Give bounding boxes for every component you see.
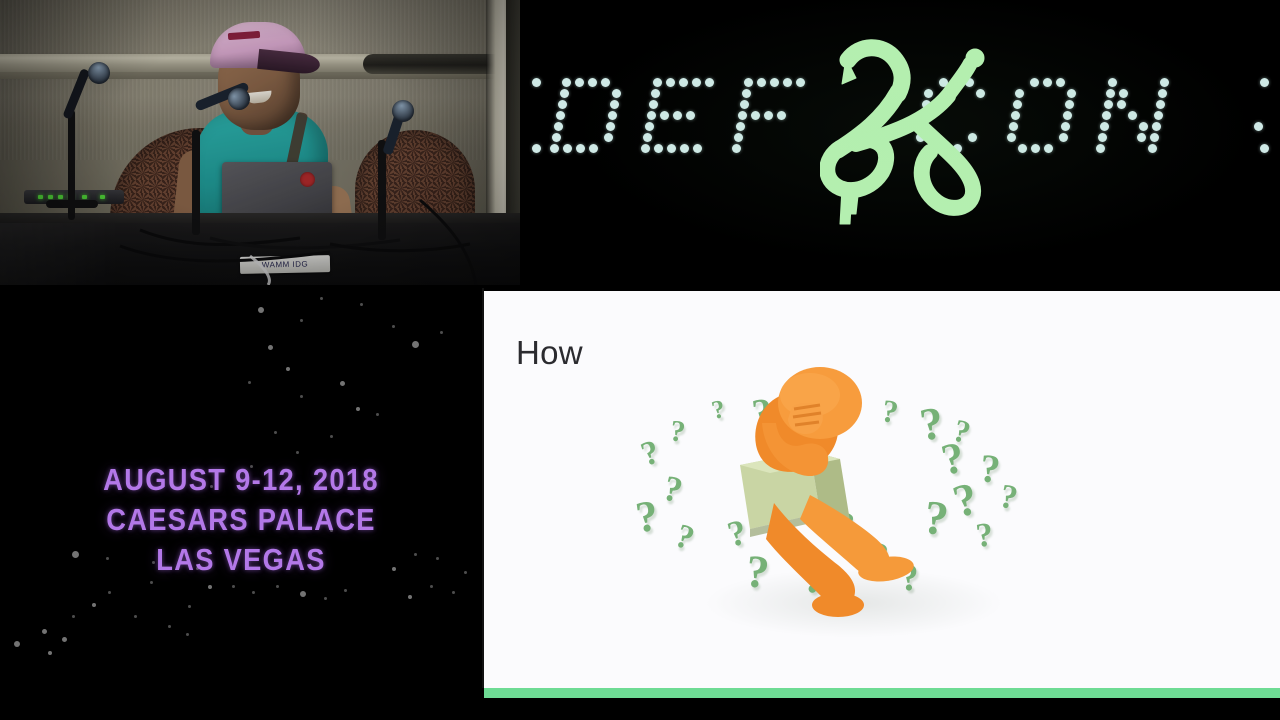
dotmatrix-dot	[1106, 89, 1115, 98]
dotmatrix-dot	[1139, 122, 1148, 131]
dotmatrix-dot	[608, 111, 617, 120]
dotmatrix-dot	[647, 111, 656, 120]
background-speckle	[134, 615, 137, 618]
slide-accent-bar	[484, 688, 1280, 698]
background-speckle	[296, 451, 299, 454]
dotmatrix-dot	[1013, 100, 1022, 109]
dotmatrix-dot	[1056, 78, 1065, 87]
dotmatrix-dot	[1098, 133, 1107, 142]
dotmatrix-dot	[606, 122, 615, 131]
dotmatrix-dot	[563, 144, 572, 153]
dotmatrix-dot	[654, 144, 663, 153]
dotmatrix-dot	[1043, 78, 1052, 87]
event-info-text: AUGUST 9-12, 2018 CAESARS PALACE LAS VEG…	[0, 460, 482, 580]
background-speckle	[274, 431, 277, 434]
dotmatrix-dot	[692, 78, 701, 87]
dotmatrix-dot	[1128, 111, 1137, 120]
background-speckle	[248, 381, 251, 384]
background-speckle	[286, 367, 290, 371]
dotmatrix-dot	[643, 133, 652, 142]
dotmatrix-accent-dot	[532, 78, 541, 87]
dotmatrix-dot	[1108, 78, 1117, 87]
background-speckle	[356, 407, 360, 411]
background-speckle	[14, 641, 20, 647]
dotmatrix-dot	[673, 111, 682, 120]
dotmatrix-dot	[1150, 133, 1159, 142]
dotmatrix-dot	[589, 144, 598, 153]
speaker-video-panel[interactable]: WAMM IDG	[0, 0, 520, 285]
background-speckle	[62, 637, 67, 642]
dotmatrix-accent-dot	[532, 144, 541, 153]
dotmatrix-dot	[1063, 111, 1072, 120]
dotmatrix-dot	[575, 78, 584, 87]
dotmatrix-dot	[666, 78, 675, 87]
dotmatrix-dot	[742, 89, 751, 98]
background-speckle	[186, 633, 189, 636]
dotmatrix-dot	[1154, 111, 1163, 120]
dotmatrix-dot	[651, 89, 660, 98]
dotmatrix-dot	[604, 133, 613, 142]
dotmatrix-dot	[1067, 89, 1076, 98]
dotmatrix-dot	[705, 78, 714, 87]
dotmatrix-accent-dot	[1254, 122, 1263, 131]
dotmatrix-dot	[693, 144, 702, 153]
background-speckle	[276, 585, 279, 588]
background-speckle	[360, 303, 363, 306]
background-speckle	[430, 585, 433, 588]
background-speckle	[150, 581, 153, 584]
background-speckle	[300, 591, 306, 597]
dotmatrix-dot	[1100, 122, 1109, 131]
background-speckle	[108, 591, 111, 594]
dotmatrix-accent-dot	[1260, 78, 1269, 87]
dotmatrix-dot	[1156, 100, 1165, 109]
dotmatrix-dot	[1158, 89, 1167, 98]
dotmatrix-dot	[645, 122, 654, 131]
dotmatrix-dot	[744, 78, 753, 87]
dotmatrix-dot	[588, 78, 597, 87]
dotmatrix-dot	[738, 111, 747, 120]
dotmatrix-dot	[783, 78, 792, 87]
slide-title: How	[516, 334, 583, 372]
dotmatrix-dot	[770, 78, 779, 87]
dotmatrix-accent-dot	[1260, 144, 1269, 153]
background-speckle	[340, 381, 345, 386]
dotmatrix-dot	[1011, 111, 1020, 120]
background-speckle	[92, 603, 96, 607]
background-speckle	[48, 651, 52, 655]
slide-artwork: ??????????????????????	[624, 353, 1094, 683]
background-speckle	[252, 591, 255, 594]
stream-composite: WAMM IDG	[0, 0, 1280, 720]
dotmatrix-dot	[554, 122, 563, 131]
dotmatrix-dot	[796, 78, 805, 87]
dotmatrix-dot	[734, 133, 743, 142]
dotmatrix-dot	[1102, 111, 1111, 120]
dotmatrix-dot	[641, 144, 650, 153]
dotmatrix-dot	[1148, 144, 1157, 153]
background-speckle	[324, 597, 327, 600]
dotmatrix-dot	[1031, 144, 1040, 153]
dotmatrix-dot	[1152, 122, 1161, 131]
background-speckle	[320, 297, 323, 300]
dotmatrix-dot	[560, 89, 569, 98]
background-speckle	[168, 625, 171, 628]
dotmatrix-dot	[1160, 78, 1169, 87]
dotmatrix-dot	[1104, 100, 1113, 109]
background-speckle	[412, 341, 419, 348]
dotmatrix-dot	[576, 144, 585, 153]
dotmatrix-dot	[777, 111, 786, 120]
background-speckle	[188, 605, 191, 608]
dotmatrix-dot	[740, 100, 749, 109]
dotmatrix-dot	[1096, 144, 1105, 153]
dotmatrix-dot	[1119, 89, 1128, 98]
dotmatrix-dot	[1009, 122, 1018, 131]
background-speckle	[408, 595, 412, 599]
dotmatrix-dot	[612, 89, 621, 98]
defcon-26-glyph	[820, 38, 1010, 228]
dotmatrix-dot	[757, 78, 766, 87]
event-city: LAS VEGAS	[29, 540, 453, 580]
dotmatrix-dot	[686, 111, 695, 120]
defcon-logo-panel	[520, 0, 1280, 285]
dotmatrix-dot	[552, 133, 561, 142]
dotmatrix-dot	[1061, 122, 1070, 131]
background-speckle	[330, 435, 333, 438]
background-speckle	[392, 325, 395, 328]
thinking-figure	[624, 353, 1094, 683]
background-speckle	[268, 345, 273, 350]
background-speckle	[42, 629, 47, 634]
dotmatrix-dot	[556, 111, 565, 120]
table-cables	[0, 0, 520, 285]
background-speckle	[300, 319, 303, 322]
dotmatrix-dot	[680, 144, 689, 153]
background-speckle	[376, 413, 379, 416]
dotmatrix-dot	[610, 100, 619, 109]
background-speckle	[258, 307, 264, 313]
dotmatrix-dot	[660, 111, 669, 120]
dotmatrix-dot	[751, 111, 760, 120]
dotmatrix-dot	[1059, 133, 1068, 142]
event-dates: AUGUST 9-12, 2018	[29, 460, 453, 500]
dotmatrix-dot	[653, 78, 662, 87]
dotmatrix-dot	[1018, 144, 1027, 153]
dotmatrix-dot	[649, 100, 658, 109]
dotmatrix-dot	[550, 144, 559, 153]
dotmatrix-dot	[1065, 100, 1074, 109]
event-venue: CAESARS PALACE	[29, 500, 453, 540]
dotmatrix-dot	[558, 100, 567, 109]
slide-surface: How ??????????????????????	[484, 291, 1280, 688]
background-speckle	[300, 395, 303, 398]
dotmatrix-dot	[562, 78, 571, 87]
background-speckle	[440, 331, 443, 334]
dotmatrix-dot	[601, 78, 610, 87]
presentation-slide-panel[interactable]: How ??????????????????????	[482, 288, 1280, 720]
background-speckle	[452, 591, 455, 594]
dotmatrix-dot	[679, 78, 688, 87]
background-speckle	[208, 585, 212, 589]
dotmatrix-dot	[1137, 133, 1146, 142]
dotmatrix-dot	[1117, 100, 1126, 109]
dotmatrix-dot	[764, 111, 773, 120]
background-speckle	[72, 615, 75, 618]
dotmatrix-dot	[732, 144, 741, 153]
dotmatrix-dot	[1030, 78, 1039, 87]
dotmatrix-dot	[667, 144, 676, 153]
dotmatrix-dot	[736, 122, 745, 131]
dotmatrix-dot	[1044, 144, 1053, 153]
event-info-panel: AUGUST 9-12, 2018 CAESARS PALACE LAS VEG…	[0, 285, 482, 720]
background-speckle	[344, 589, 347, 592]
background-speckle	[232, 585, 235, 588]
dotmatrix-dot	[1015, 89, 1024, 98]
